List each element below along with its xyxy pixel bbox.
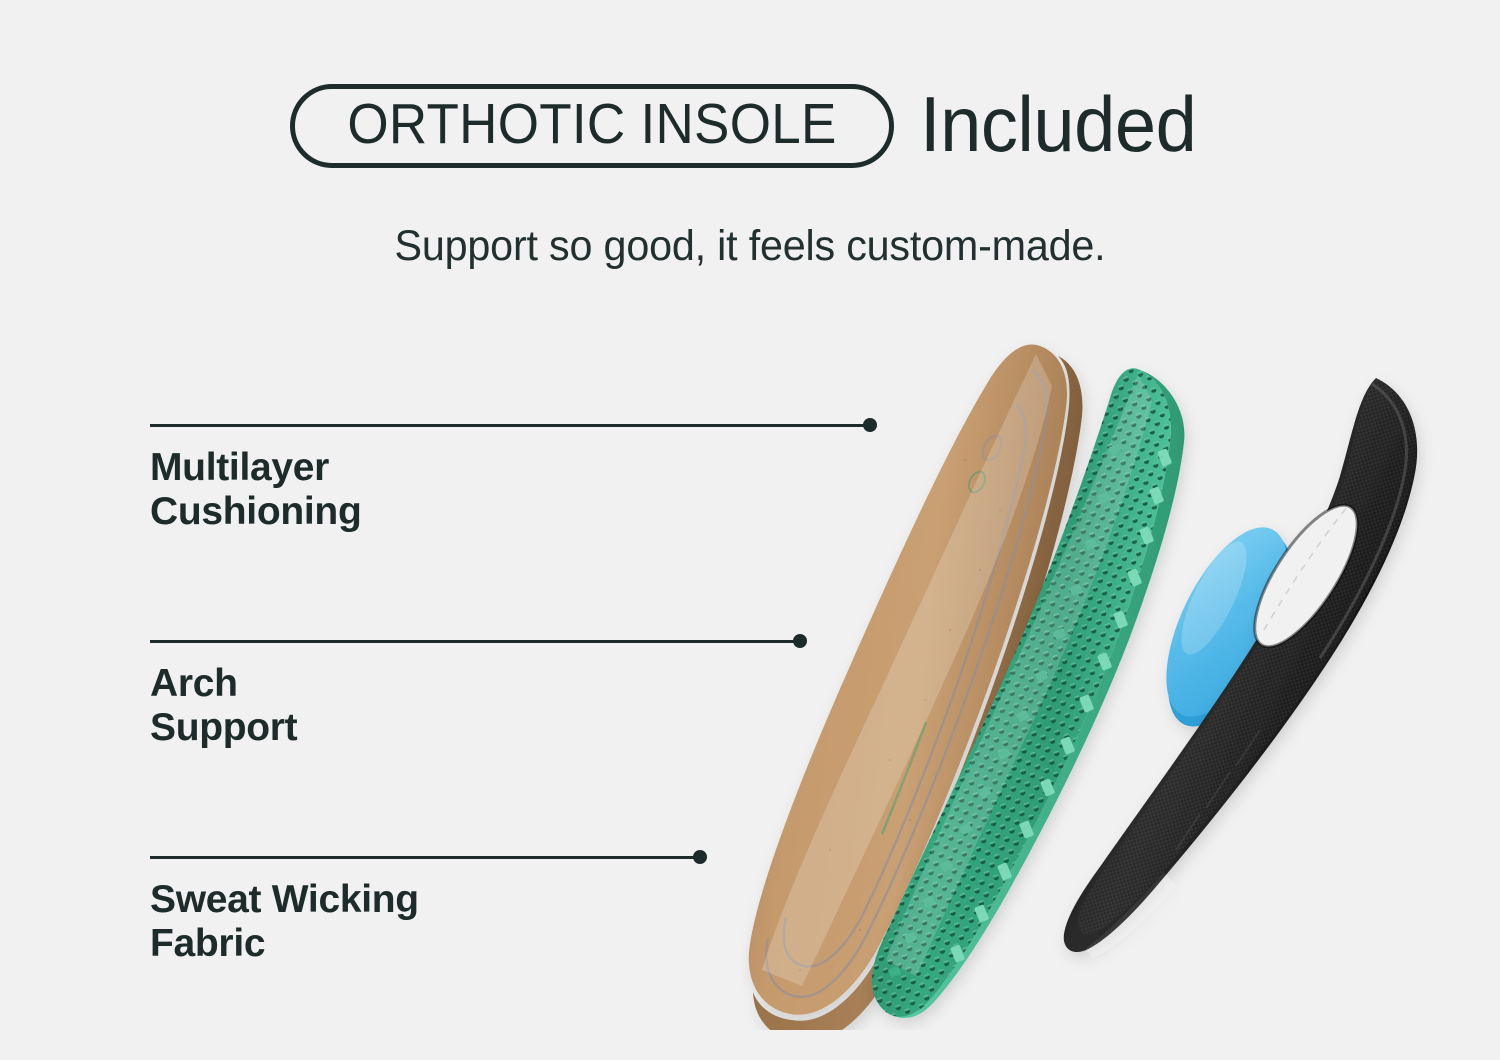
feature-callout-arch-support: Arch Support bbox=[150, 634, 297, 751]
leader-line bbox=[150, 418, 361, 432]
leader-line-stroke bbox=[150, 856, 700, 859]
feature-callout-sweat-wicking-fabric: Sweat Wicking Fabric bbox=[150, 850, 419, 967]
subtitle: Support so good, it feels custom-made. bbox=[30, 222, 1470, 271]
headline: ORTHOTIC INSOLE Included bbox=[0, 84, 1500, 168]
leader-line-dot bbox=[693, 850, 707, 864]
leader-line-stroke bbox=[150, 640, 800, 643]
leader-line bbox=[150, 850, 419, 864]
badge-label: ORTHOTIC INSOLE bbox=[347, 96, 836, 153]
feature-callout-multilayer-cushioning: Multilayer Cushioning bbox=[150, 418, 361, 535]
product-image-exploded-insole bbox=[740, 330, 1440, 1030]
headline-suffix: Included bbox=[920, 85, 1196, 163]
infographic-stage: ORTHOTIC INSOLE Included Support so good… bbox=[0, 0, 1500, 1060]
leader-line bbox=[150, 634, 297, 648]
feature-label: Multilayer Cushioning bbox=[150, 446, 361, 535]
orthotic-insole-badge: ORTHOTIC INSOLE bbox=[290, 84, 894, 168]
feature-label: Sweat Wicking Fabric bbox=[150, 878, 419, 967]
feature-label: Arch Support bbox=[150, 662, 297, 751]
